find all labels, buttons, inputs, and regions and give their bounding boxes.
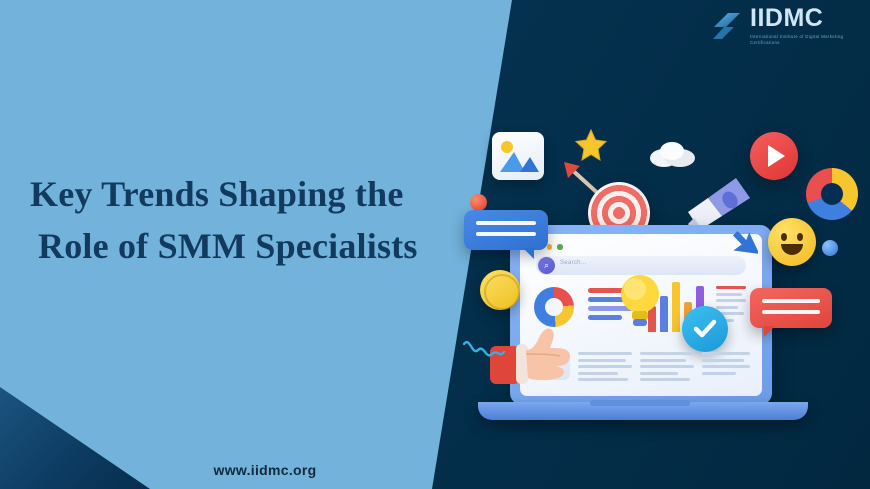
star-icon [574,128,608,162]
search-placeholder: Search... [560,260,587,266]
emoji-mouth [781,244,803,255]
chat-bubble-red-icon [750,288,832,328]
page-title: Key Trends Shaping the Role of SMM Speci… [30,168,470,272]
squiggle-decoration [462,338,506,364]
play-triangle-icon [768,145,785,167]
social-media-marketing-illustration: ⌕ Search... [470,110,870,410]
logo-text-block: IIDMC International Institute of Digital… [750,6,858,47]
footer-website-url[interactable]: www.iidmc.org [0,462,530,478]
dashboard-text-block-3 [702,352,750,378]
verified-check-icon [682,306,728,352]
brand-logo[interactable]: IIDMC International Institute of Digital… [710,6,858,47]
headline-line-2: Role of SMM Specialists [30,220,470,272]
play-button-icon[interactable] [750,132,798,180]
logo-subtitle: International Institute of Digital Marke… [750,34,858,47]
laptop-hinge [590,400,690,406]
emoji-eye-right [797,233,803,241]
search-icon: ⌕ [538,257,555,274]
rhombus-logo-icon [710,9,744,43]
chat-bubble-blue-icon [464,210,548,250]
donut-chart-icon [806,168,858,220]
image-card-icon [492,132,544,180]
window-dot-minimize [547,244,553,250]
window-dot-maximize [557,244,563,250]
dashboard-text-block-2 [640,352,694,385]
logo-name: IIDMC [750,6,858,31]
smiley-emoji-icon [768,218,816,266]
lightbulb-icon [618,272,662,330]
headline-line-1: Key Trends Shaping the [30,174,404,214]
cursor-pointer-icon [728,228,758,262]
dashboard-text-block-1 [578,352,632,385]
sphere-blue-icon [822,240,838,256]
emoji-eye-left [781,233,787,241]
coin-icon [480,270,520,310]
sphere-red-icon [470,194,487,211]
cloud-icon [648,138,698,168]
blog-banner: Key Trends Shaping the Role of SMM Speci… [0,0,870,489]
